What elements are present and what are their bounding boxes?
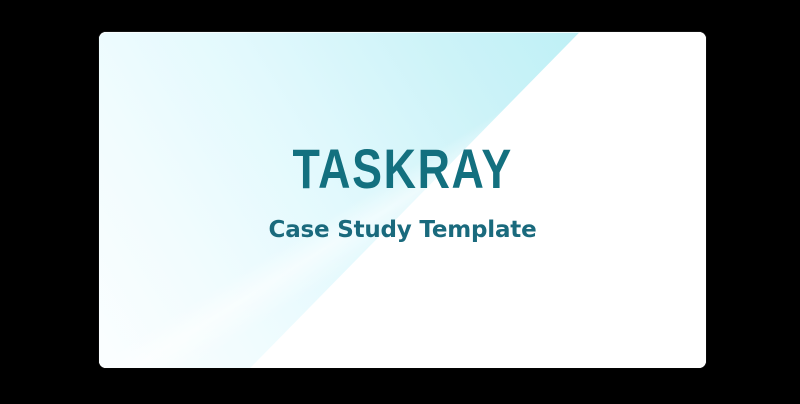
slide-title: TASKRAY xyxy=(292,141,512,197)
slide-subtitle: Case Study Template xyxy=(269,219,537,242)
screenshot-canvas: TASKRAY Case Study Template xyxy=(0,0,800,404)
slide-card[interactable]: TASKRAY Case Study Template xyxy=(99,32,706,368)
slide-text-block: TASKRAY Case Study Template xyxy=(99,32,706,368)
